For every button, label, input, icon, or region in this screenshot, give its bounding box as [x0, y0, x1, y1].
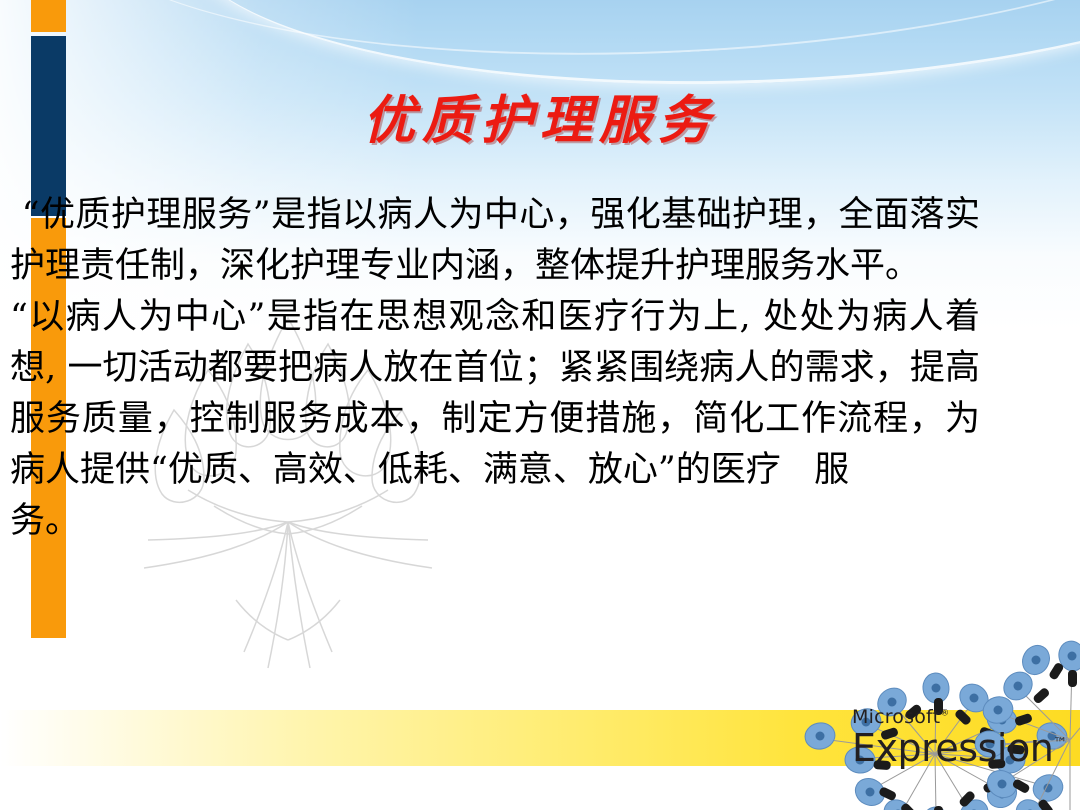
logo-microsoft-line: Microsoft® — [852, 708, 1062, 727]
logo-registered-mark: ® — [940, 709, 949, 719]
left-accent-bar-orange-top — [31, 0, 66, 32]
slide-title: 优质护理服务 — [0, 78, 1080, 153]
microsoft-expression-logo: Microsoft® Expression™ — [852, 708, 1062, 767]
logo-expression-line: Expression™ — [852, 729, 1062, 767]
logo-trademark-mark: ™ — [1053, 735, 1067, 751]
presentation-slide: 优质护理服务 “优质护理服务”是指以病人为中心，强化基础护理，全面落实护理责任制… — [0, 0, 1080, 810]
slide-body-text: “优质护理服务”是指以病人为中心，强化基础护理，全面落实护理责任制，深化护理专业… — [10, 190, 980, 547]
logo-microsoft-text: Microsoft — [852, 706, 940, 728]
logo-expression-text: Expression — [852, 726, 1053, 770]
